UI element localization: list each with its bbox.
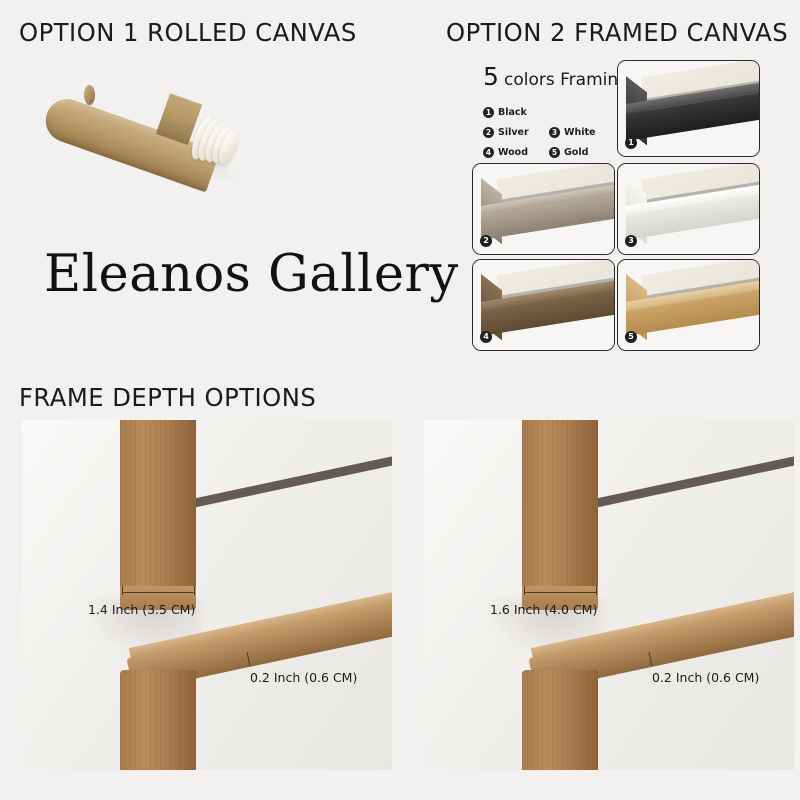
option2-heading: OPTION 2 FRAMED CANVAS — [446, 18, 788, 47]
rolled-canvas-tube-image — [45, 72, 260, 182]
legend-badge-1: 1 — [483, 107, 494, 118]
legend-title: 5 colors Framing — [483, 62, 628, 91]
legend-badge-4: 4 — [483, 147, 494, 158]
legend-item-wood: 4 Wood — [483, 147, 545, 158]
frame-thumbnail-silver[interactable]: 2 — [472, 163, 615, 255]
legend-title-text: colors Framing — [504, 70, 629, 90]
frame-thumbnail-black[interactable]: 1 — [617, 60, 760, 157]
thumbnail-badge-1: 1 — [625, 137, 637, 149]
tube-opening-inner — [84, 85, 95, 105]
framing-colors-legend: 5 colors Framing 1 Black 2 Silver 3 Whit… — [483, 62, 628, 158]
infographic-page: OPTION 1 ROLLED CANVAS Eleanos Gallery O… — [0, 0, 800, 800]
frame-depth-photo-left: 1.4 Inch (3.5 CM) 0.2 Inch (0.6 CM) — [22, 420, 392, 770]
frame-depth-photo-right: 1.6 Inch (4.0 CM) 0.2 Inch (0.6 CM) — [424, 420, 794, 770]
legend-label-1: Black — [498, 107, 527, 118]
thumbnail-badge-3: 3 — [625, 235, 637, 247]
depth-label-float-gap-right: 0.2 Inch (0.6 CM) — [652, 670, 759, 685]
depth-label-frame-depth-right: 1.6 Inch (4.0 CM) — [490, 602, 597, 617]
depth-label-frame-depth-left: 1.4 Inch (3.5 CM) — [88, 602, 195, 617]
legend-label-2: Silver — [498, 127, 529, 138]
legend-badge-5: 5 — [549, 147, 560, 158]
legend-badge-3: 3 — [549, 127, 560, 138]
brand-wordmark: Eleanos Gallery — [44, 245, 459, 304]
frame-thumbnail-wood[interactable]: 4 — [472, 259, 615, 351]
frame-depth-heading: FRAME DEPTH OPTIONS — [19, 383, 316, 412]
legend-item-gold: 5 Gold — [549, 147, 611, 158]
depth-label-float-gap-left: 0.2 Inch (0.6 CM) — [250, 670, 357, 685]
legend-item-white: 3 White — [549, 127, 611, 138]
legend-item-black: 1 Black — [483, 107, 611, 118]
frame-thumbnail-white[interactable]: 3 — [617, 163, 760, 255]
legend-item-silver: 2 Silver — [483, 127, 545, 138]
thumbnail-badge-4: 4 — [480, 331, 492, 343]
legend-badge-2: 2 — [483, 127, 494, 138]
legend-label-5: Gold — [564, 147, 588, 158]
legend-label-4: Wood — [498, 147, 528, 158]
legend-label-3: White — [564, 127, 595, 138]
legend-count: 5 — [483, 62, 499, 91]
option1-heading: OPTION 1 ROLLED CANVAS — [19, 18, 357, 47]
legend-items-grid: 1 Black 2 Silver 3 White 4 Wood 5 Gold — [483, 107, 628, 158]
thumbnail-badge-5: 5 — [625, 331, 637, 343]
thumbnail-badge-2: 2 — [480, 235, 492, 247]
frame-thumbnail-gold[interactable]: 5 — [617, 259, 760, 351]
